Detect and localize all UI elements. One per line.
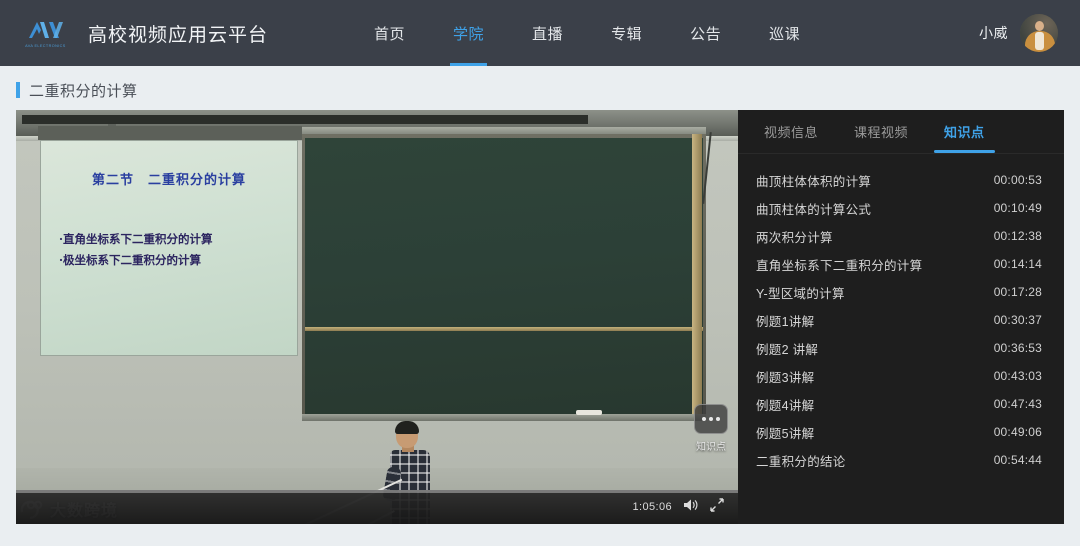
nav-item-announcement[interactable]: 公告: [666, 0, 745, 66]
knowledge-point-time: 00:30:37: [994, 313, 1042, 327]
chalkboard: [305, 138, 703, 414]
knowledge-point-name: 例题1讲解: [756, 311, 814, 330]
knowledge-point-time: 00:49:06: [994, 425, 1042, 439]
user-name: 小威: [979, 23, 1008, 43]
nav-item-patrol[interactable]: 巡课: [745, 0, 824, 66]
list-item[interactable]: 直角坐标系下二重积分的计算 00:14:14: [738, 250, 1064, 278]
dot-icon: [702, 417, 706, 421]
knowledge-point-name: 两次积分计算: [756, 227, 833, 246]
chalk-piece: [576, 410, 602, 415]
knowledge-point-time: 00:43:03: [994, 369, 1042, 383]
knowledge-point-time: 00:10:49: [994, 201, 1042, 215]
main-content: EPSON 第二节 二重积分的计算 直角坐标系下二重积分的计算 极坐标系下二重积…: [16, 110, 1064, 524]
nav-item-live[interactable]: 直播: [508, 0, 587, 66]
ava-logo-icon: AVA ELECTRONICS: [16, 13, 74, 53]
chalk-tray: [302, 414, 706, 421]
controls-right-group: 1:05:06: [632, 498, 738, 517]
slide-bullets: 直角坐标系下二重积分的计算 极坐标系下二重积分的计算: [59, 229, 289, 271]
progress-buffered: [16, 490, 738, 493]
knowledge-point-name: 曲顶柱体体积的计算: [756, 171, 871, 190]
knowledge-point-list: 曲顶柱体体积的计算 00:00:53 曲顶柱体的计算公式 00:10:49 两次…: [738, 154, 1064, 524]
knowledge-point-name: 例题2 讲解: [756, 339, 818, 358]
chalkboard-divider: [305, 327, 703, 331]
tab-video-info[interactable]: 视频信息: [746, 110, 836, 153]
dot-icon: [709, 417, 713, 421]
side-panel: 视频信息 课程视频 知识点 曲顶柱体体积的计算 00:00:53 曲顶柱体的计算…: [738, 110, 1064, 524]
knowledge-point-name: 二重积分的结论: [756, 451, 846, 470]
list-item[interactable]: 曲顶柱体的计算公式 00:10:49: [738, 194, 1064, 222]
dot-icon: [716, 417, 720, 421]
current-time: 1:05:06: [632, 501, 672, 513]
list-item[interactable]: 二重积分的结论 00:54:44: [738, 446, 1064, 474]
knowledge-point-marker-button[interactable]: [694, 404, 728, 434]
video-controls[interactable]: 1:05:06: [16, 490, 738, 524]
teacher-hair: [395, 421, 419, 434]
knowledge-point-name: 例题3讲解: [756, 367, 814, 386]
knowledge-point-name: 例题4讲解: [756, 395, 814, 414]
projection-screen-case: [38, 126, 302, 140]
knowledge-point-marker-label: 知识点: [687, 438, 735, 453]
video-player[interactable]: EPSON 第二节 二重积分的计算 直角坐标系下二重积分的计算 极坐标系下二重积…: [16, 110, 738, 524]
knowledge-point-name: 例题5讲解: [756, 423, 814, 442]
list-item[interactable]: 例题1讲解 00:30:37: [738, 306, 1064, 334]
knowledge-point-time: 00:00:53: [994, 173, 1042, 187]
list-item[interactable]: 例题3讲解 00:43:03: [738, 362, 1064, 390]
page-title: 二重积分的计算: [29, 80, 138, 101]
slide-title: 第二节 二重积分的计算: [41, 169, 297, 188]
chalkboard-right-rail: [692, 134, 702, 418]
panel-tabs: 视频信息 课程视频 知识点: [738, 110, 1064, 154]
avatar-head: [1035, 21, 1044, 31]
main-nav: 首页 学院 直播 专辑 公告 巡课: [350, 0, 824, 66]
list-item[interactable]: 两次积分计算 00:12:38: [738, 222, 1064, 250]
list-item[interactable]: 例题2 讲解 00:36:53: [738, 334, 1064, 362]
brand-logo[interactable]: AVA ELECTRONICS 高校视频应用云平台: [16, 13, 268, 53]
tab-course-videos[interactable]: 课程视频: [836, 110, 926, 153]
nav-item-album[interactable]: 专辑: [587, 0, 666, 66]
avatar[interactable]: [1020, 14, 1058, 52]
logo-subtext: AVA ELECTRONICS: [25, 43, 66, 48]
knowledge-point-name: Y-型区域的计算: [756, 283, 845, 302]
knowledge-point-time: 00:54:44: [994, 453, 1042, 467]
avatar-shirt: [1035, 32, 1044, 50]
list-item[interactable]: 例题4讲解 00:47:43: [738, 390, 1064, 418]
nav-item-home[interactable]: 首页: [350, 0, 429, 66]
ceiling-rail-slot: [22, 115, 588, 124]
knowledge-point-name: 曲顶柱体的计算公式: [756, 199, 871, 218]
slide-bullet-2: 极坐标系下二重积分的计算: [59, 250, 289, 271]
user-area[interactable]: 小威: [979, 14, 1058, 52]
knowledge-point-time: 00:47:43: [994, 397, 1042, 411]
knowledge-point-time: 00:12:38: [994, 229, 1042, 243]
knowledge-point-name: 直角坐标系下二重积分的计算: [756, 255, 922, 274]
nav-item-academy[interactable]: 学院: [429, 0, 508, 66]
slide-bullet-1: 直角坐标系下二重积分的计算: [59, 229, 289, 250]
projection-screen: 第二节 二重积分的计算 直角坐标系下二重积分的计算 极坐标系下二重积分的计算: [40, 140, 298, 356]
knowledge-point-time: 00:36:53: [994, 341, 1042, 355]
list-item[interactable]: 例题5讲解 00:49:06: [738, 418, 1064, 446]
list-item[interactable]: 曲顶柱体体积的计算 00:00:53: [738, 166, 1064, 194]
fullscreen-icon[interactable]: [710, 498, 724, 517]
brand-title: 高校视频应用云平台: [88, 20, 268, 47]
video-frame-scene: EPSON 第二节 二重积分的计算 直角坐标系下二重积分的计算 极坐标系下二重积…: [16, 110, 738, 524]
tab-knowledge-points[interactable]: 知识点: [926, 110, 1003, 153]
page-title-row: 二重积分的计算: [0, 70, 1080, 110]
knowledge-point-time: 00:17:28: [994, 285, 1042, 299]
progress-bar[interactable]: [16, 490, 738, 493]
title-accent-bar: [16, 82, 20, 98]
site-header: AVA ELECTRONICS 高校视频应用云平台 首页 学院 直播 专辑 公告…: [0, 0, 1080, 66]
volume-icon[interactable]: [683, 498, 699, 517]
list-item[interactable]: Y-型区域的计算 00:17:28: [738, 278, 1064, 306]
knowledge-point-time: 00:14:14: [994, 257, 1042, 271]
